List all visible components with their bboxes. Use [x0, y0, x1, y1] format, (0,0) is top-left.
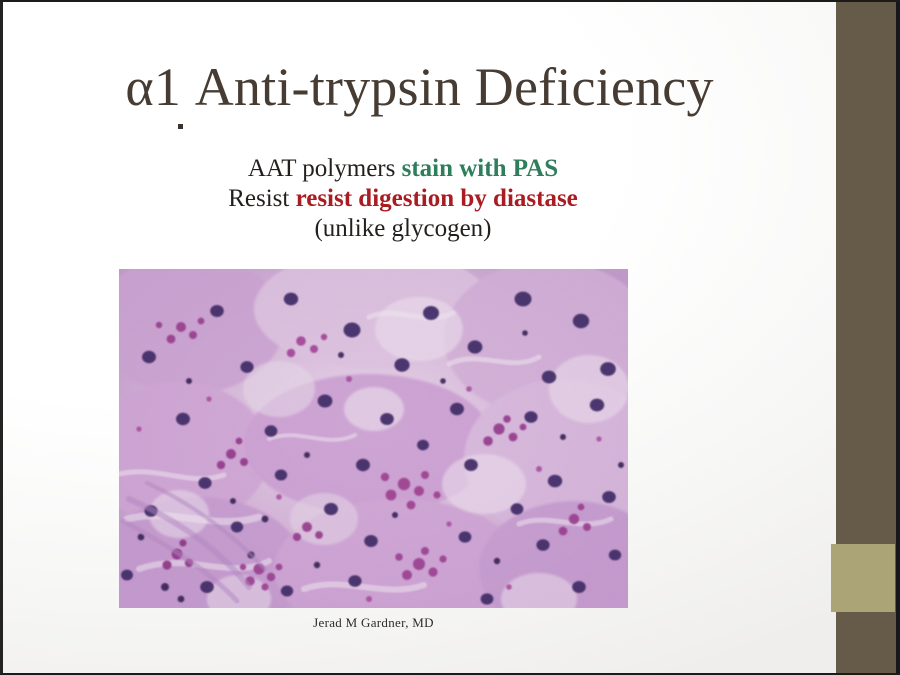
title-period-mark: [178, 124, 183, 129]
body-line-3: (unlike glycogen): [3, 214, 803, 244]
body-line-2: Resist resist digestion by diastase: [3, 184, 803, 214]
slide-body-text: AAT polymers stain with PAS Resist resis…: [3, 154, 803, 244]
body-line-2-plain: Resist: [228, 185, 295, 212]
histology-image: [119, 269, 628, 608]
slide-right-edge: [896, 2, 900, 675]
slide-canvas: α1 Anti-trypsin Deficiency AAT polymers …: [0, 0, 900, 675]
body-line-1: AAT polymers stain with PAS: [3, 154, 803, 184]
body-line-1-highlight: stain with PAS: [402, 155, 559, 182]
image-caption: Jerad M Gardner, MD: [119, 615, 628, 631]
body-line-1-plain: AAT polymers: [248, 155, 402, 182]
sidebar-accent-block-khaki: [831, 544, 895, 612]
pas-diastase-liver-histology-graphic: [119, 269, 628, 608]
body-line-2-highlight: resist digestion by diastase: [296, 185, 578, 212]
slide-title: α1 Anti-trypsin Deficiency: [3, 59, 836, 116]
